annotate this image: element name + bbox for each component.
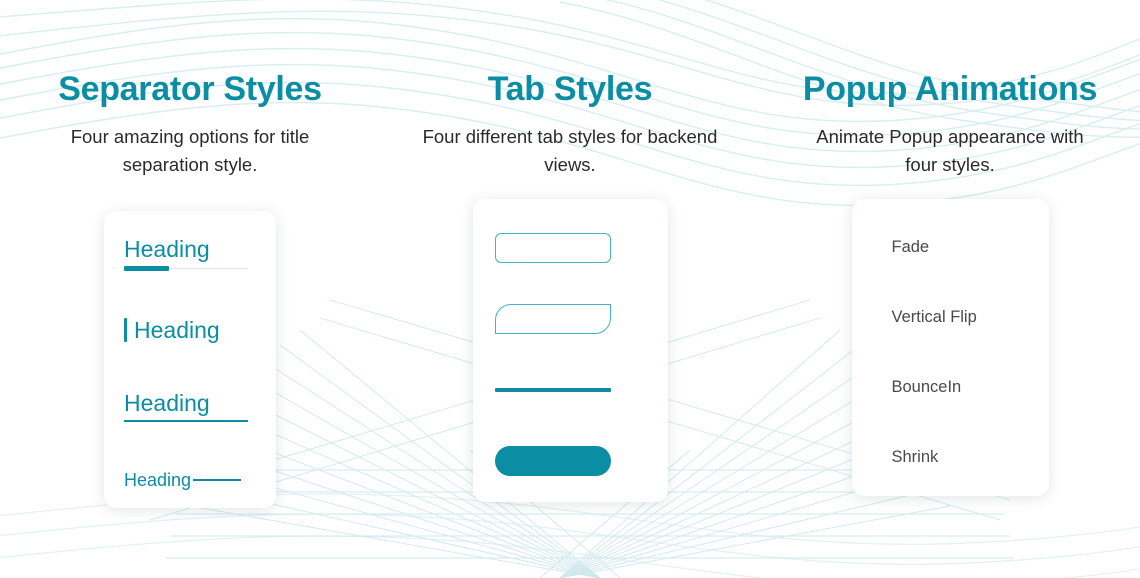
separator-style-full-underline[interactable]: Heading xyxy=(124,391,256,423)
separator-style-inline-trailing-line[interactable]: Heading xyxy=(124,471,256,490)
separator-heading-label: Heading xyxy=(124,391,256,415)
tab-style-solid-underline-bar[interactable] xyxy=(495,375,611,405)
tab-preview-card xyxy=(473,199,668,502)
separator-style-partial-underline[interactable]: Heading xyxy=(124,237,256,270)
separator-preview-card: Heading Heading Heading Heading xyxy=(104,211,276,508)
separator-heading-label: Heading xyxy=(124,471,191,490)
separator-style-left-vertical-bar[interactable]: Heading xyxy=(124,318,256,342)
tab-style-outlined-rounded-rectangle[interactable] xyxy=(495,233,611,263)
column-description: Four amazing options for title separatio… xyxy=(40,123,340,179)
column-title: Tab Styles xyxy=(488,70,653,109)
separator-vertical-bar xyxy=(124,318,127,342)
popup-animation-option-vertical-flip[interactable]: Vertical Flip xyxy=(892,309,1049,326)
tab-style-filled-pill[interactable] xyxy=(495,446,611,476)
column-separator-styles: Separator Styles Four amazing options fo… xyxy=(0,0,380,578)
popup-animation-card: Fade Vertical Flip BounceIn Shrink xyxy=(852,199,1049,496)
separator-trailing-line xyxy=(193,479,241,482)
column-description: Four different tab styles for backend vi… xyxy=(420,123,720,179)
tab-underline-bar xyxy=(495,388,611,392)
tab-style-outlined-diagonal-rounded[interactable] xyxy=(495,304,611,334)
separator-underline xyxy=(124,420,248,423)
column-title: Popup Animations xyxy=(803,70,1097,109)
separator-style-list: Heading Heading Heading Heading xyxy=(124,237,256,490)
popup-animation-list: Fade Vertical Flip BounceIn Shrink xyxy=(852,239,1049,466)
separator-rail xyxy=(124,268,248,270)
tab-style-list xyxy=(495,233,646,476)
column-title: Separator Styles xyxy=(58,70,322,109)
popup-animation-option-bouncein[interactable]: BounceIn xyxy=(892,379,1049,396)
column-popup-animations: Popup Animations Animate Popup appearanc… xyxy=(760,0,1140,578)
column-tab-styles: Tab Styles Four different tab styles for… xyxy=(380,0,760,578)
separator-heading-label: Heading xyxy=(134,318,220,342)
column-description: Animate Popup appearance with four style… xyxy=(800,123,1100,179)
feature-showcase: Separator Styles Four amazing options fo… xyxy=(0,0,1140,578)
popup-animation-option-shrink[interactable]: Shrink xyxy=(892,449,1049,466)
popup-animation-option-fade[interactable]: Fade xyxy=(892,239,1049,256)
separator-heading-label: Heading xyxy=(124,237,256,261)
